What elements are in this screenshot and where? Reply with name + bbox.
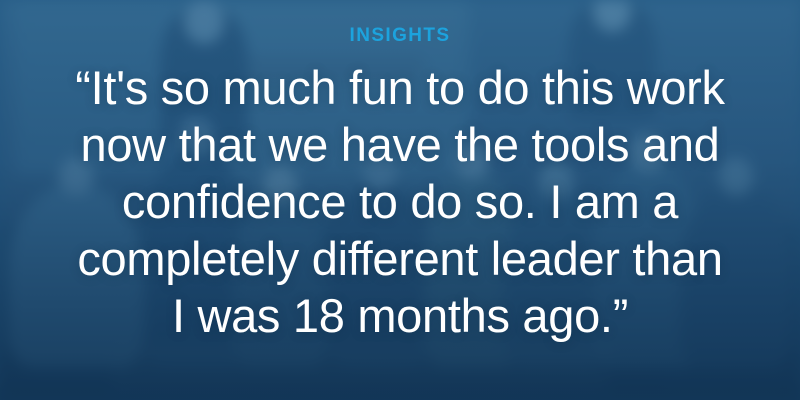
quote-line: I was 18 months ago.” (0, 287, 800, 344)
quote-line: “It's so much fun to do this work (0, 59, 800, 116)
quote-text: “It's so much fun to do this work now th… (0, 59, 800, 344)
card-content: INSIGHTS “It's so much fun to do this wo… (0, 0, 800, 400)
quote-line: now that we have the tools and (0, 116, 800, 173)
quote-line: completely different leader than (0, 230, 800, 287)
eyebrow-label: INSIGHTS (350, 26, 451, 45)
insights-quote-card: INSIGHTS “It's so much fun to do this wo… (0, 0, 800, 400)
quote-line: confidence to do so. I am a (0, 173, 800, 230)
